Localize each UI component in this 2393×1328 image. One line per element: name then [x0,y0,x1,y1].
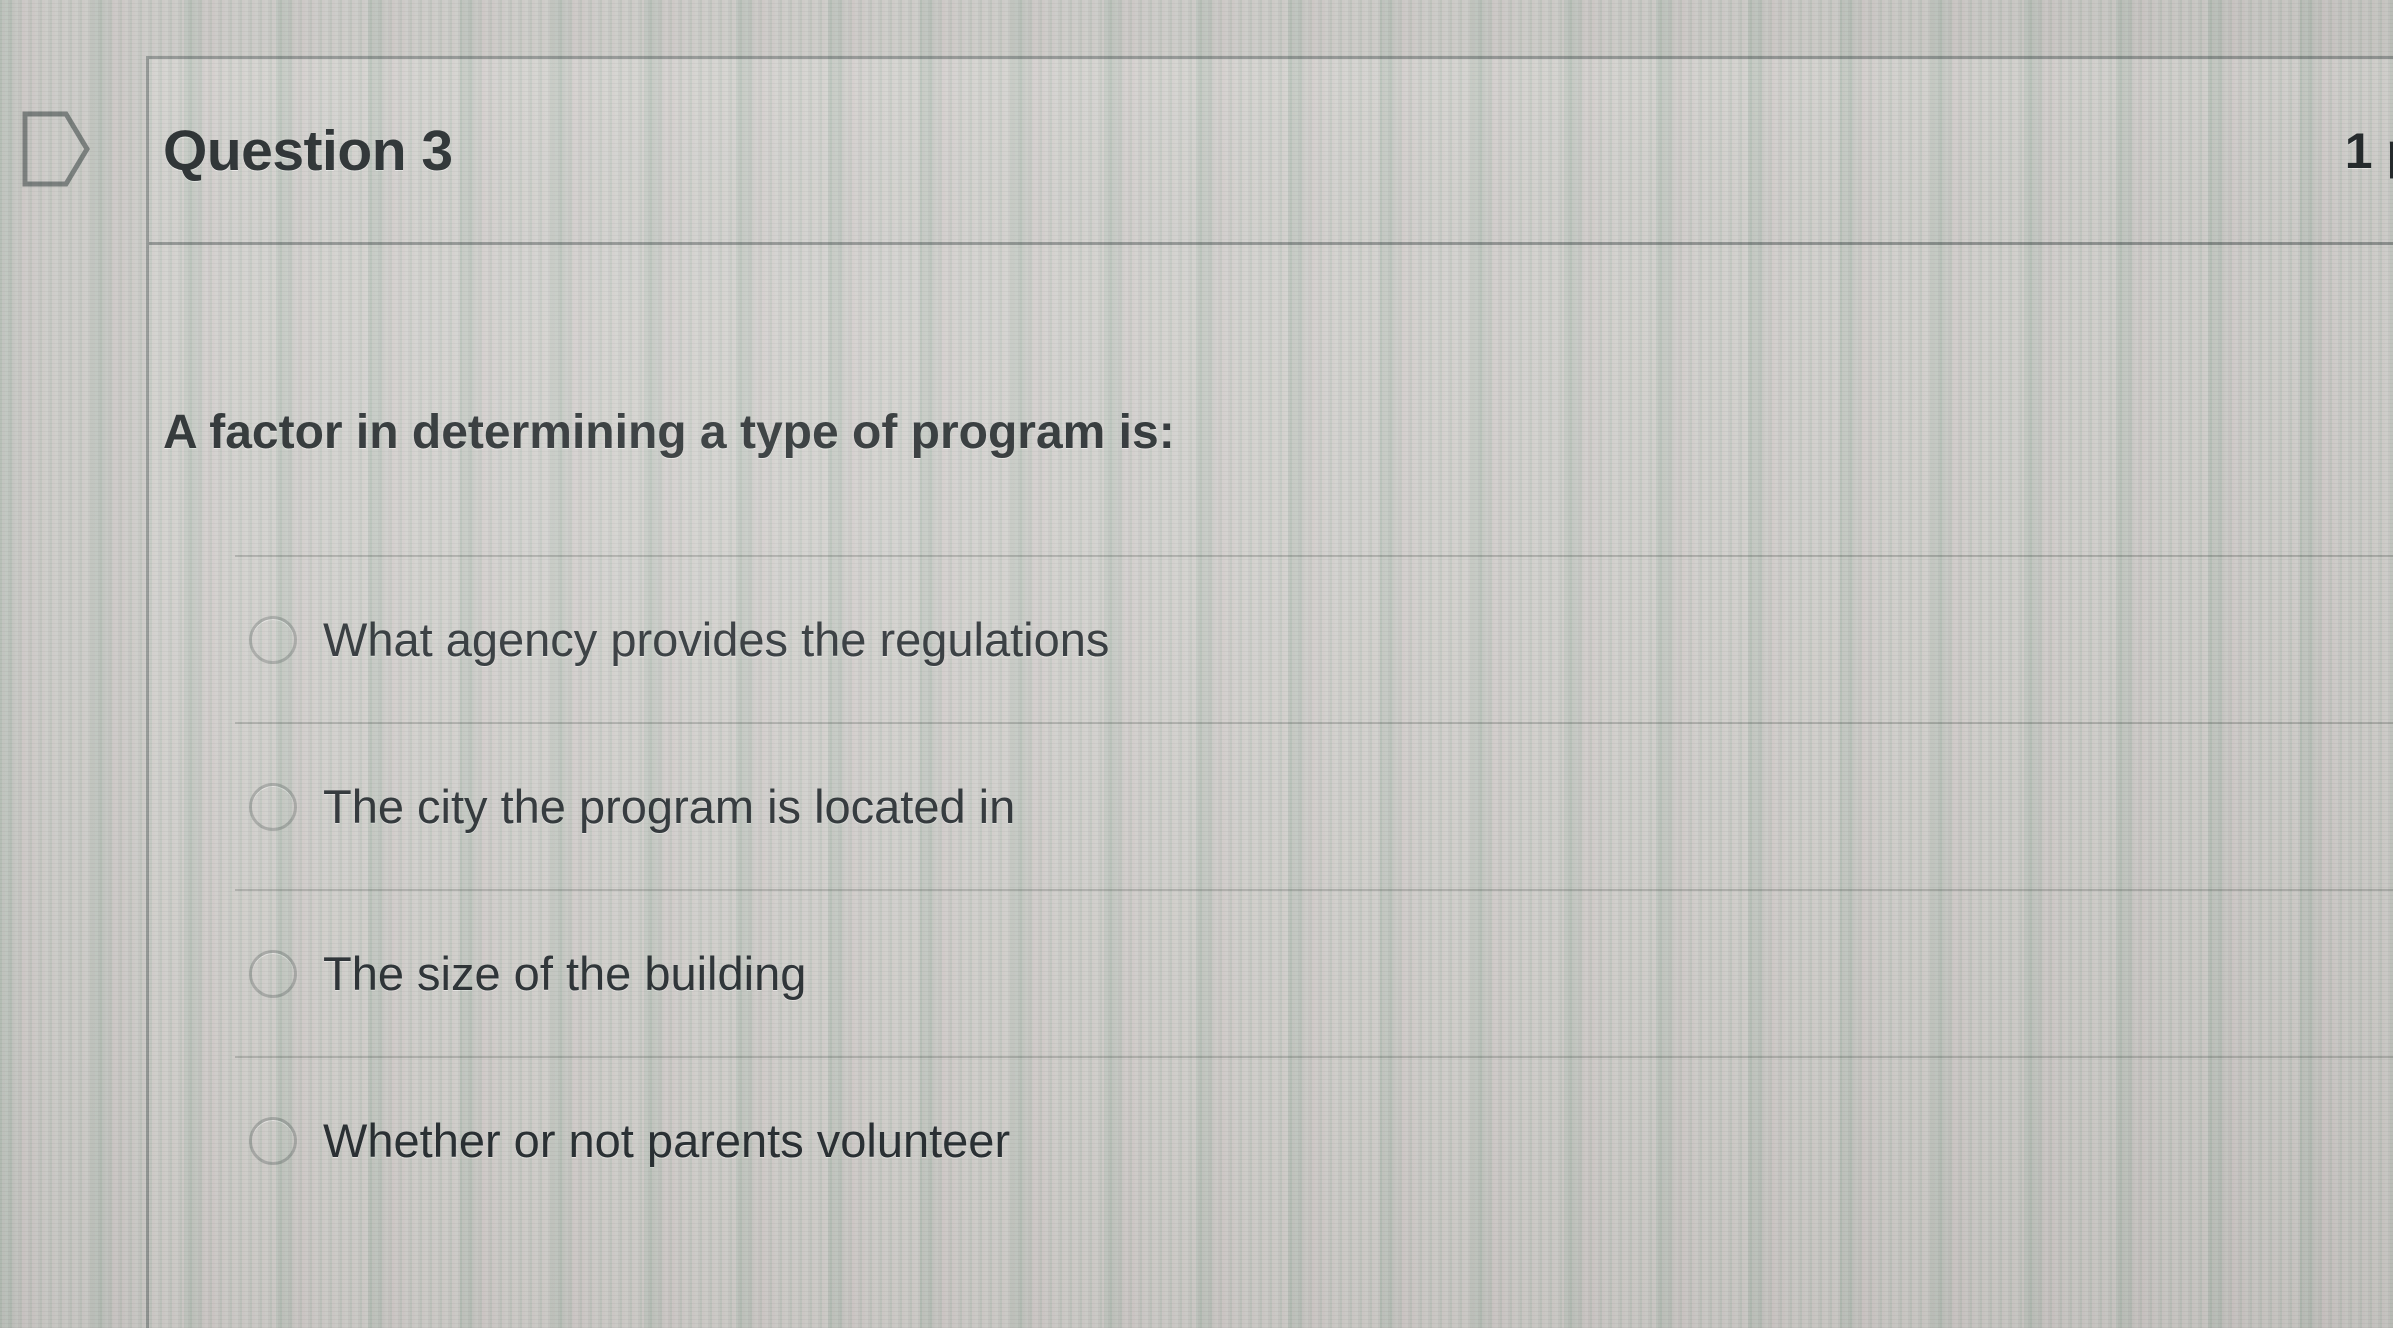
answer-label: The size of the building [323,946,806,1001]
answer-label: The city the program is located in [323,779,1015,834]
flag-outline-icon[interactable] [22,110,90,188]
radio-button-icon[interactable] [249,950,297,998]
question-title: Question 3 [163,118,453,184]
answer-option-b[interactable]: The city the program is located in [235,722,2393,889]
radio-button-icon[interactable] [249,783,297,831]
answer-option-d[interactable]: Whether or not parents volunteer [235,1056,2393,1223]
answer-label: What agency provides the regulations [323,612,1109,667]
answer-option-a[interactable]: What agency provides the regulations [235,555,2393,722]
answer-label: Whether or not parents volunteer [323,1113,1010,1168]
question-body: A factor in determining a type of progra… [149,245,2393,1328]
radio-button-icon[interactable] [249,1117,297,1165]
question-prompt: A factor in determining a type of progra… [163,405,1175,460]
answer-list: What agency provides the regulations The… [235,555,2393,1223]
question-card: Question 3 1 p A factor in determining a… [146,56,2393,1328]
radio-button-icon[interactable] [249,616,297,664]
quiz-question-screenshot: Question 3 1 p A factor in determining a… [0,0,2393,1328]
question-points: 1 p [2345,122,2393,180]
question-header: Question 3 1 p [149,59,2393,245]
answer-option-c[interactable]: The size of the building [235,889,2393,1056]
